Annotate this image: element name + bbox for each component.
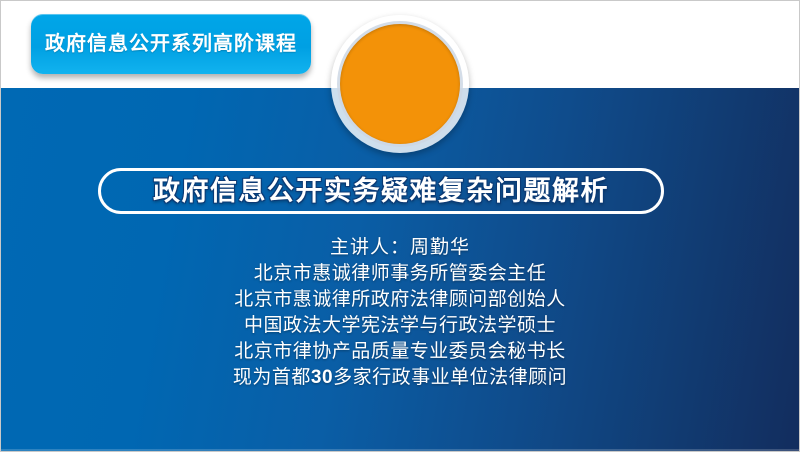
course-series-banner-label: 政府信息公开系列高阶课程 xyxy=(45,34,297,54)
course-series-banner: 政府信息公开系列高阶课程 xyxy=(31,14,311,74)
presenter-credential-line: 北京市惠诚律师事务所管委会主任 xyxy=(1,261,799,287)
advisory-count: 30 xyxy=(311,367,333,388)
advisory-suffix: 多家行政事业单位法律顾问 xyxy=(333,367,567,388)
presenter-block: 主讲人：周勤华 北京市惠诚律师事务所管委会主任 北京市惠诚律所政府法律顾问部创始… xyxy=(1,235,799,391)
presentation-slide: 政府信息公开系列高阶课程 政府信息公开实务疑难复杂问题解析 主讲人：周勤华 北京… xyxy=(0,0,800,452)
presenter-name-line: 主讲人：周勤华 xyxy=(1,235,799,261)
presenter-credential-line: 中国政法大学宪法学与行政法学硕士 xyxy=(1,313,799,339)
presenter-credential-line: 北京市惠诚律所政府法律顾问部创始人 xyxy=(1,287,799,313)
orange-circle-emblem xyxy=(331,15,469,153)
presenter-credential-line: 北京市律协产品质量专业委员会秘书长 xyxy=(1,339,799,365)
advisory-prefix: 现为首都 xyxy=(233,367,311,388)
emblem-orange-core xyxy=(340,24,460,144)
slide-title-pill: 政府信息公开实务疑难复杂问题解析 xyxy=(98,168,664,214)
presenter-advisory-line: 现为首都30多家行政事业单位法律顾问 xyxy=(1,365,799,391)
slide-title: 政府信息公开实务疑难复杂问题解析 xyxy=(153,178,609,205)
